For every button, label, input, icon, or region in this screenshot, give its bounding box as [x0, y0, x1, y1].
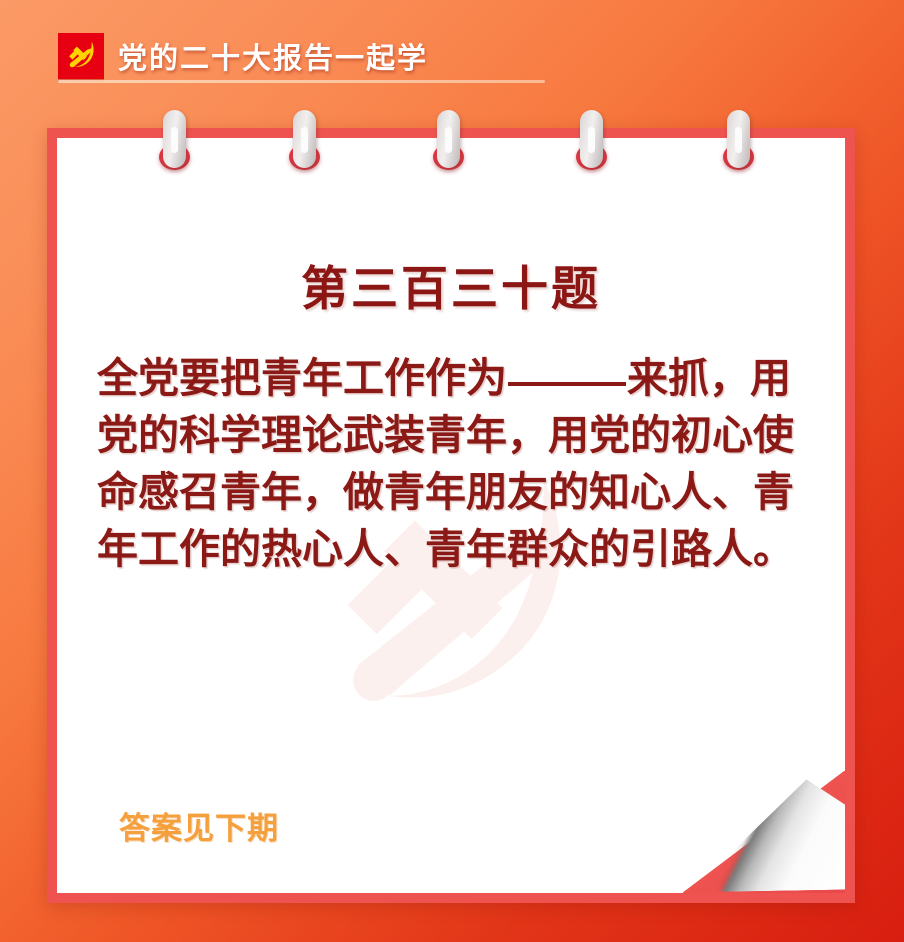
spiral-ring-coil [727, 110, 750, 168]
question-body: 全党要把青年工作作为来抓，用党的科学理论武装青年，用党的初心使命感召青年，做青年… [97, 350, 827, 578]
spiral-ring-coil [293, 110, 316, 168]
spiral-ring-slot [445, 127, 452, 153]
spiral-ring-2 [293, 110, 316, 170]
spiral-ring-1 [163, 110, 186, 170]
page-header: 党的二十大报告一起学 [58, 25, 558, 87]
spiral-ring-coil [437, 110, 460, 168]
spiral-ring-coil [580, 110, 603, 168]
header-underline [58, 80, 545, 83]
spiral-ring-4 [580, 110, 603, 170]
question-text-before-blank: 全党要把青年工作作为 [97, 354, 507, 402]
page-curl[interactable] [683, 771, 845, 893]
spiral-ring-slot [588, 127, 595, 153]
spiral-ring-3 [437, 110, 460, 170]
answer-blank [508, 382, 626, 386]
calendar-card: 第三百三十题 全党要把青年工作作为来抓，用党的科学理论武装青年，用党的初心使命感… [47, 128, 855, 903]
spiral-ring-5 [727, 110, 750, 170]
header-title: 党的二十大报告一起学 [118, 35, 428, 77]
answer-note: 答案见下期 [119, 803, 279, 848]
spiral-ring-slot [301, 127, 308, 153]
calendar-page: 第三百三十题 全党要把青年工作作为来抓，用党的科学理论武装青年，用党的初心使命感… [57, 138, 845, 893]
spiral-ring-coil [163, 110, 186, 168]
question-title: 第三百三十题 [57, 250, 845, 319]
spiral-ring-slot [171, 127, 178, 153]
party-hammer-sickle-icon [58, 33, 104, 79]
spiral-ring-slot [735, 127, 742, 153]
